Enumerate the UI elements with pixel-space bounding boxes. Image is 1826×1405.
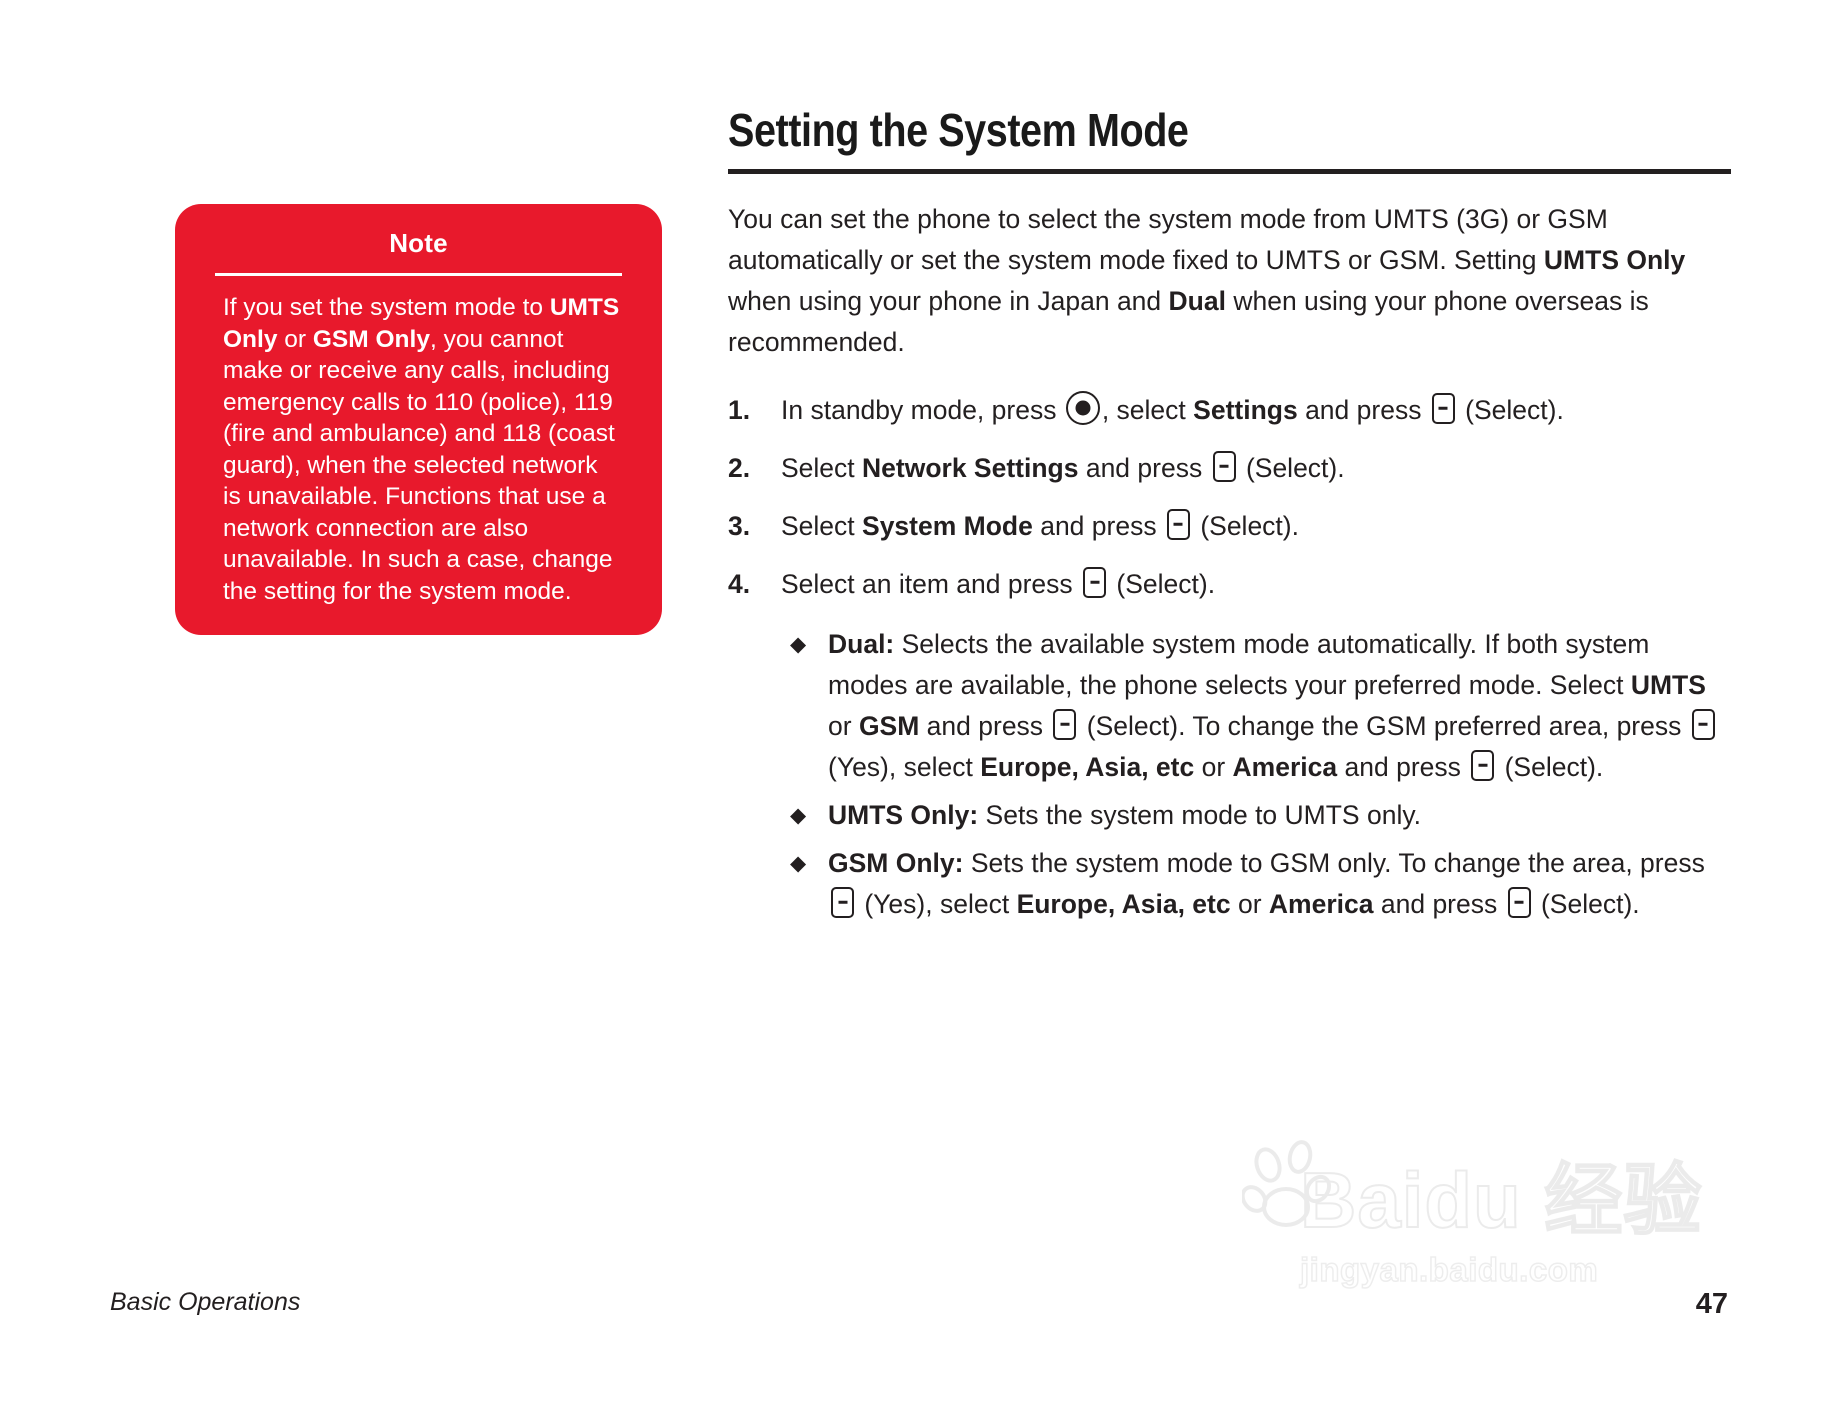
note-title: Note: [175, 228, 662, 273]
bullet-gsm-only-text-1: Sets the system mode to GSM only. To cha…: [963, 848, 1704, 878]
step-1-text-c: and press: [1298, 395, 1429, 425]
diamond-bullet-icon: ◆: [790, 795, 806, 836]
soft-key-icon: [1213, 451, 1236, 482]
main-content: Setting the System Mode You can set the …: [728, 104, 1736, 925]
diamond-bullet-icon: ◆: [790, 624, 806, 665]
soft-key-icon: [1053, 709, 1076, 740]
bullet-dual: ◆Dual: Selects the available system mode…: [728, 624, 1736, 788]
bullet-dual-bold-america: America: [1233, 752, 1338, 782]
soft-key-icon: [1432, 393, 1455, 424]
bullet-umts-only-label: UMTS Only:: [828, 800, 978, 830]
bullet-dual-bold-umts: UMTS: [1631, 670, 1706, 700]
bullet-umts-only: ◆UMTS Only: Sets the system mode to UMTS…: [728, 795, 1736, 836]
step-1: 1.In standby mode, press , select Settin…: [728, 390, 1736, 430]
step-2: 2.Select Network Settings and press (Sel…: [728, 448, 1736, 488]
bullet-gsm-only-bold-america: America: [1269, 889, 1374, 919]
bullet-dual-text-1: Selects the available system mode automa…: [828, 629, 1649, 700]
bullet-dual-text-8: (Select).: [1497, 752, 1603, 782]
soft-key-icon: [1083, 567, 1106, 598]
step-2-text-d: (Select).: [1239, 453, 1345, 483]
step-2-bold-network-settings: Network Settings: [862, 453, 1078, 483]
intro-paragraph: You can set the phone to select the syst…: [728, 199, 1736, 363]
step-1-text-b: , select: [1102, 395, 1193, 425]
soft-key-icon: [1471, 750, 1494, 781]
step-1-text-d: (Select).: [1458, 395, 1564, 425]
step-2-text-a: Select: [781, 453, 862, 483]
footer-section-label: Basic Operations: [110, 1288, 300, 1317]
step-3-text-d: (Select).: [1193, 511, 1299, 541]
page-title: Setting the System Mode: [728, 104, 1595, 156]
title-underline: [728, 169, 1731, 174]
step-3-text-c: and press: [1033, 511, 1164, 541]
note-callout: Note If you set the system mode to UMTS …: [175, 204, 662, 635]
watermark-url-text: jingyan.baidu.com: [1300, 1251, 1740, 1289]
bullet-gsm-only-text-5: (Yes), select: [857, 889, 1017, 919]
manual-page: Note If you set the system mode to UMTS …: [0, 0, 1826, 1405]
bullet-gsm-only-text-7: and press: [1374, 889, 1505, 919]
note-text-3: , you cannot make or receive any calls, …: [223, 326, 615, 605]
note-text-2: or: [277, 326, 312, 353]
soft-key-icon: [1167, 509, 1190, 540]
bullet-dual-text-5: (Yes), select: [828, 752, 980, 782]
bullet-umts-only-text: Sets the system mode to UMTS only.: [978, 800, 1421, 830]
diamond-bullet-icon: ◆: [790, 843, 806, 884]
soft-key-icon: [1508, 887, 1531, 918]
bullet-dual-text-3: and press: [919, 711, 1050, 741]
bullet-dual-bold-europe: Europe, Asia, etc: [980, 752, 1194, 782]
bullet-dual-label: Dual:: [828, 629, 894, 659]
step-2-number: 2.: [728, 448, 750, 488]
intro-bold-umts-only: UMTS Only: [1544, 245, 1685, 275]
bullet-gsm-only-text-8: (Select).: [1534, 889, 1640, 919]
note-text-1: If you set the system mode to: [223, 294, 550, 321]
note-divider: [215, 273, 622, 276]
step-4-number: 4.: [728, 564, 750, 604]
step-3-bold-system-mode: System Mode: [862, 511, 1033, 541]
procedure-steps: 1.In standby mode, press , select Settin…: [728, 390, 1736, 604]
bullet-dual-text-7: and press: [1337, 752, 1468, 782]
bullet-gsm-only-label: GSM Only:: [828, 848, 963, 878]
note-body: If you set the system mode to UMTS Only …: [175, 292, 662, 607]
step-4: 4.Select an item and press (Select).: [728, 564, 1736, 604]
step-3-number: 3.: [728, 506, 750, 546]
baidu-watermark: Baidu 经验 jingyan.baidu.com: [1300, 1155, 1740, 1345]
bullet-dual-text-4: (Select). To change the GSM preferred ar…: [1079, 711, 1688, 741]
step-3: 3.Select System Mode and press (Select).: [728, 506, 1736, 546]
bullet-gsm-only-text-6: or: [1231, 889, 1269, 919]
watermark-main-text: Baidu 经验: [1300, 1155, 1740, 1245]
step-1-number: 1.: [728, 390, 750, 430]
bullet-gsm-only: ◆GSM Only: Sets the system mode to GSM o…: [728, 843, 1736, 925]
note-bold-gsm-only: GSM Only: [313, 326, 430, 353]
footer-page-number: 47: [1696, 1288, 1728, 1321]
intro-part-2: when using your phone in Japan and: [728, 286, 1169, 316]
bullet-gsm-only-bold-europe: Europe, Asia, etc: [1017, 889, 1231, 919]
mode-option-list: ◆Dual: Selects the available system mode…: [728, 624, 1736, 925]
paw-print-icon: [1242, 1139, 1342, 1239]
center-key-icon: [1066, 391, 1100, 425]
step-3-text-a: Select: [781, 511, 862, 541]
intro-bold-dual: Dual: [1169, 286, 1226, 316]
bullet-dual-text-6: or: [1194, 752, 1232, 782]
step-4-text-d: (Select).: [1109, 569, 1215, 599]
soft-key-icon: [1692, 709, 1715, 740]
step-1-text-a: In standby mode, press: [781, 395, 1064, 425]
step-2-text-c: and press: [1078, 453, 1209, 483]
bullet-dual-text-2: or: [828, 711, 859, 741]
step-1-bold-settings: Settings: [1193, 395, 1298, 425]
intro-part-1: You can set the phone to select the syst…: [728, 204, 1608, 275]
step-4-text-a: Select an item and press: [781, 569, 1080, 599]
bullet-dual-bold-gsm: GSM: [859, 711, 919, 741]
soft-key-icon: [831, 887, 854, 918]
